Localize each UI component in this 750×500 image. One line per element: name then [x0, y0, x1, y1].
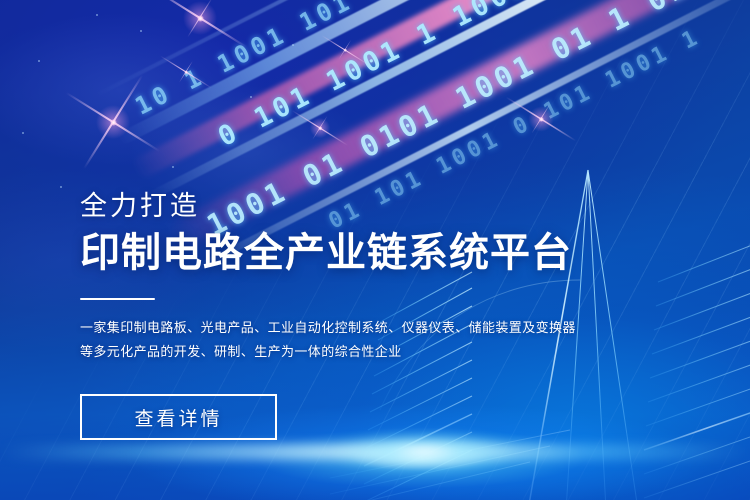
- dust-speck: [140, 30, 142, 32]
- hero-content: 全力打造 印制电路全产业链系统平台 一家集印制电路板、光电产品、工业自动化控制系…: [80, 190, 600, 440]
- hero-description-line-1: 一家集印制电路板、光电产品、工业自动化控制系统、仪器仪表、储能装置及变换器: [80, 316, 600, 340]
- view-details-button[interactable]: 查看详情: [80, 394, 277, 440]
- dust-speck: [250, 96, 252, 98]
- hero-eyebrow: 全力打造: [80, 190, 600, 222]
- hero-divider: [80, 298, 155, 300]
- dust-speck: [172, 166, 174, 168]
- hero-description-line-2: 等多元化产品的开发、研制、生产为一体的综合性企业: [80, 340, 600, 364]
- dust-speck: [60, 186, 62, 188]
- dust-speck: [96, 14, 98, 16]
- dust-speck: [292, 44, 294, 46]
- hero-banner: 10 1 1001 101 101 101 1001 0 0 101 1001 …: [0, 0, 750, 500]
- dust-speck: [22, 132, 24, 134]
- hero-headline: 印制电路全产业链系统平台: [80, 230, 600, 276]
- dust-speck: [38, 60, 40, 62]
- hero-description: 一家集印制电路板、光电产品、工业自动化控制系统、仪器仪表、储能装置及变换器 等多…: [80, 316, 600, 364]
